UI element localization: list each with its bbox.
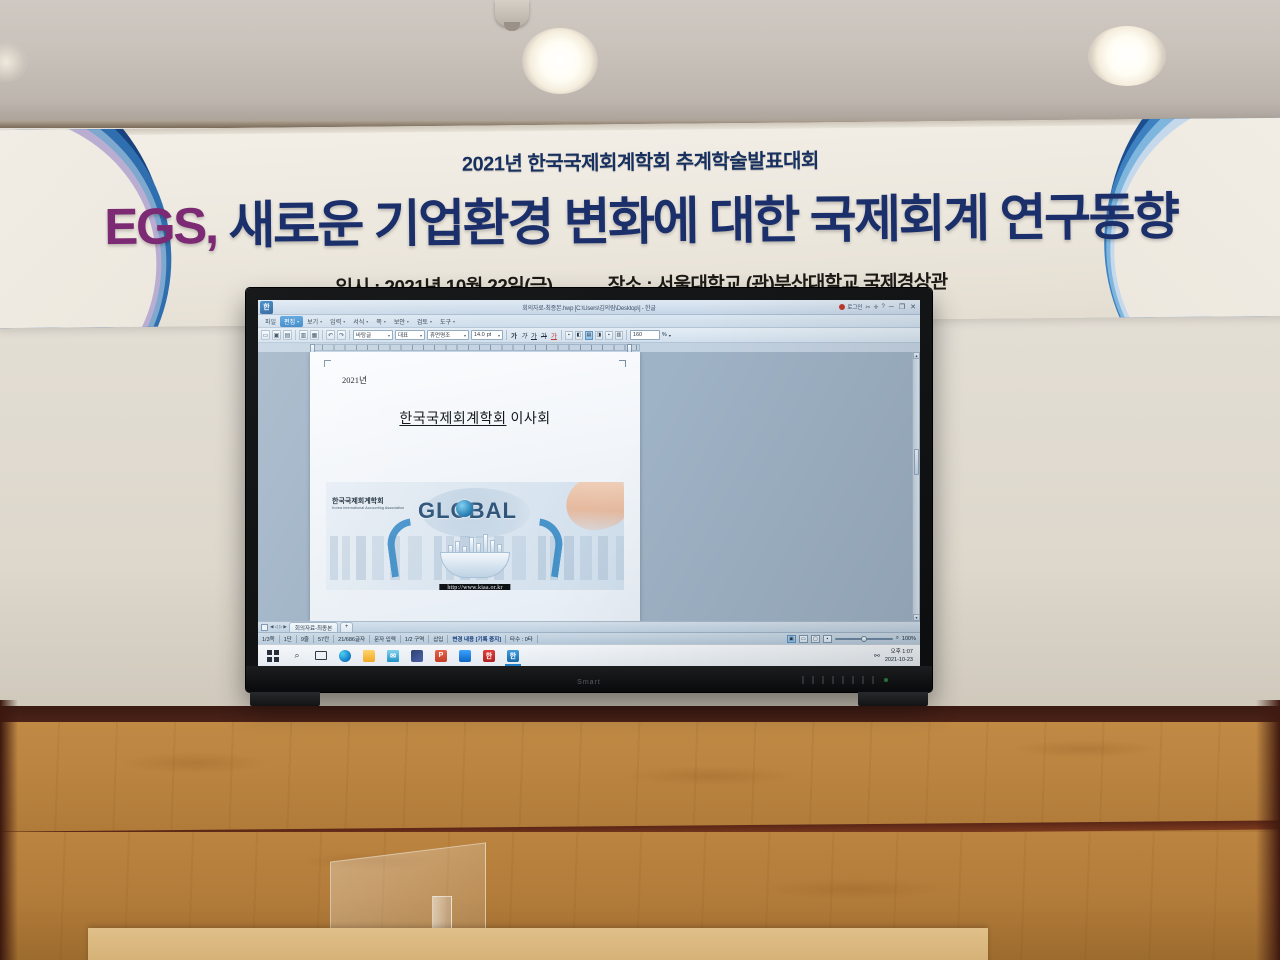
font-family-value: 휴먼명조 [430, 331, 450, 339]
horizontal-ruler[interactable] [310, 344, 640, 351]
document-heading-underlined: 한국국제회계학회 [399, 412, 506, 427]
wall-shadow-left [0, 700, 18, 960]
menu-label: 보안 [394, 317, 405, 326]
menu-item-security[interactable]: 보안▾ [390, 316, 413, 327]
status-char-count: 21/686글자 [334, 635, 370, 643]
menu-item-input[interactable]: 입력▾ [326, 316, 349, 327]
menu-label: 보기 [307, 317, 318, 326]
zoom-slider[interactable] [835, 635, 893, 643]
logo-org-name-en: Korea International Accounting Associati… [332, 506, 404, 510]
task-view-button[interactable] [309, 646, 333, 666]
status-insert-mode: 삽입 [429, 635, 448, 643]
save-document-icon[interactable]: ▤ [283, 330, 292, 340]
italic-button[interactable]: 가 [520, 330, 528, 340]
chevron-down-icon: ▾ [430, 319, 432, 324]
document-page[interactable]: 2021년 한국국제회계학회 이사회 한국국제회계학회 Korea Intern… [310, 352, 640, 621]
taskbar-item-hangul-red[interactable]: 한 [477, 646, 501, 666]
chevron-down-icon: ▾ [420, 333, 422, 338]
menu-label: 입력 [330, 317, 341, 326]
magnifier-icon[interactable]: ⌕ [896, 635, 899, 642]
windows-taskbar: ⌕ ✉ P 한 한 ⚯ 오후 1:07 2021-10-23 [258, 644, 920, 666]
ruler-row [258, 343, 920, 352]
font-family-select[interactable]: 휴먼명조 ▾ [427, 330, 469, 340]
align-distribute-button[interactable]: ▪ [605, 331, 613, 340]
ceiling [0, 0, 1280, 128]
chevron-down-icon: ▾ [498, 333, 500, 338]
ceiling-light [1088, 26, 1166, 86]
scroll-up-icon[interactable]: ▴ [913, 352, 920, 359]
hangul-blue-icon: 한 [507, 650, 519, 662]
chevron-down-icon: ▾ [320, 319, 322, 324]
banner-title-rest: 새로운 기업환경 변화에 대한 국제회계 연구동향 [216, 188, 1178, 254]
sprinkler-head-icon [495, 0, 529, 26]
wood-grain [760, 878, 950, 900]
menu-label: 파일 [265, 317, 276, 326]
wood-panel-upper [0, 722, 1280, 832]
taskbar-item-file-explorer[interactable] [357, 646, 381, 666]
zoom-app-icon [459, 650, 471, 662]
margin-marker [619, 360, 626, 367]
menu-item-page[interactable]: 쪽▾ [372, 316, 390, 327]
menu-item-edit[interactable]: 편집▾ [280, 316, 303, 327]
menu-label: 검토 [417, 317, 428, 326]
status-keystrokes: 타수 : 0타 [506, 635, 538, 643]
search-icon: ⌕ [294, 650, 299, 661]
font-size-select[interactable]: 14.0 pt ▾ [471, 330, 503, 340]
menu-label: 서식 [353, 317, 364, 326]
system-tray: ⚯ 오후 1:07 2021-10-23 [874, 648, 917, 664]
redo-icon[interactable]: ↷ [337, 330, 346, 340]
globe-icon [456, 500, 473, 517]
clock-time: 오후 1:07 [885, 648, 913, 656]
taskbar-item-powerpoint[interactable]: P [429, 646, 453, 666]
banner-title-egs: EGS, [104, 197, 217, 255]
view-mode-single-button[interactable]: ▣ [787, 635, 796, 643]
document-tab[interactable]: 회의자료-최종본 [289, 622, 338, 633]
document-heading: 한국국제회계학회 이사회 [310, 408, 640, 428]
font-size-unit: pt [487, 332, 492, 338]
tab-nav-last-icon[interactable]: ▶ [283, 624, 286, 630]
taskbar-item-edge[interactable] [333, 646, 357, 666]
align-right-button[interactable]: ◨ [595, 331, 603, 340]
print-preview-icon[interactable]: ▦ [310, 330, 319, 340]
chevron-down-icon[interactable]: ▾ [669, 333, 671, 338]
status-line: 9줄 [297, 635, 314, 643]
status-section: 1/2 구역 [401, 635, 429, 643]
bar-chart-graphic [444, 530, 506, 554]
tab-nav-first-icon[interactable]: ◀ [270, 624, 273, 630]
formatting-toolbar: ▭ ▣ ▤ ▥ ▦ ↶ ↷ 바탕글 ▾ 대표 ▾ [258, 328, 920, 343]
menu-bar: 파일 편집▾ 보기▾ 입력▾ 서식▾ 쪽▾ [258, 315, 920, 328]
banner-title: EGS, 새로운 기업환경 변화에 대한 국제회계 연구동향 [0, 174, 1280, 260]
taskbar-item-zoom[interactable] [453, 646, 477, 666]
toolbar-separator [561, 330, 562, 340]
window-titlebar: 한 회의자료-최종본.hwp [C:\Users\김의림\Desktop\] -… [258, 300, 920, 315]
powerpoint-icon: P [435, 650, 447, 662]
hangul-red-icon: 한 [483, 650, 495, 662]
line-spacing-unit: % [662, 332, 667, 338]
toolbar-separator [626, 330, 627, 340]
task-view-icon [315, 651, 327, 660]
document-line-year: 2021년 [342, 374, 367, 386]
line-spacing-input[interactable]: 160 [630, 330, 660, 340]
chevron-down-icon: ▾ [384, 319, 386, 324]
folder-icon [363, 650, 375, 662]
align-divide-button[interactable]: ▥ [615, 331, 623, 340]
add-tab-button[interactable]: + [340, 622, 353, 633]
mail-icon: ✉ [387, 650, 399, 662]
taskbar-item-mail[interactable]: ✉ [381, 646, 405, 666]
menu-item-view[interactable]: 보기▾ [303, 316, 326, 327]
wood-grain [120, 752, 270, 774]
margin-marker [324, 360, 331, 367]
tab-navigation[interactable]: ◀ ◁ ▷ ▶ [270, 624, 287, 630]
vertical-scrollbar[interactable]: ▴ ▾ [912, 352, 919, 621]
align-justify-button[interactable]: ▪ [565, 331, 573, 340]
taskbar-item-teams[interactable] [405, 646, 429, 666]
chevron-down-icon: ▾ [388, 333, 390, 338]
teams-icon [411, 650, 423, 662]
document-tab-bar: ◀ ◁ ▷ ▶ 회의자료-최종본 + [258, 621, 920, 632]
taskbar-search-button[interactable]: ⌕ [285, 646, 309, 666]
tv-bezel-bottom: Smart [246, 666, 932, 692]
scrollbar-thumb[interactable] [914, 449, 919, 475]
edge-icon [339, 650, 351, 662]
start-button[interactable] [261, 646, 285, 666]
status-page: 1/3쪽 [258, 635, 280, 643]
chevron-down-icon: ▾ [453, 319, 455, 324]
zoom-slider-handle[interactable] [861, 636, 867, 642]
wall-shadow-right [1256, 700, 1280, 960]
print-icon[interactable]: ▥ [299, 330, 308, 340]
menu-label: 도구 [440, 317, 451, 326]
toolbar-separator [349, 330, 350, 340]
hangul-word-processor-window: 한 회의자료-최종본.hwp [C:\Users\김의림\Desktop\] -… [258, 300, 920, 666]
tv-control-buttons[interactable] [802, 676, 876, 684]
hand-graphic [559, 482, 624, 538]
toolbar-separator [295, 330, 296, 340]
view-mode-facing-button[interactable]: ▭ [799, 635, 808, 643]
toolbar-separator [506, 330, 507, 340]
status-track-changes: 변경 내용 [기록 중지] [448, 635, 506, 643]
menu-item-review[interactable]: 검토▾ [413, 316, 436, 327]
clock-date: 2021-10-23 [885, 656, 913, 664]
style-type-value: 대표 [398, 331, 408, 339]
association-logo-image[interactable]: 한국국제회계학회 Korea International Accounting … [326, 482, 624, 590]
network-icon[interactable]: ⚯ [874, 652, 880, 660]
tv-stand-left [250, 690, 320, 706]
window-title: 회의자료-최종본.hwp [C:\Users\김의림\Desktop\] - 한… [258, 303, 920, 312]
underline-button[interactable]: 가 [530, 330, 538, 340]
document-canvas[interactable]: 2021년 한국국제회계학회 이사회 한국국제회계학회 Korea Intern… [258, 352, 920, 621]
tab-list-icon[interactable] [261, 624, 268, 631]
wood-grain [1010, 740, 1160, 758]
display-screen: 한 회의자료-최종본.hwp [C:\Users\김의림\Desktop\] -… [258, 300, 920, 666]
conference-room: 2021년 한국국제회계학회 추계학술발표대회 EGS, 새로운 기업환경 변화… [0, 0, 1280, 960]
wall-mounted-display: 한 회의자료-최종본.hwp [C:\Users\김의림\Desktop\] -… [246, 288, 932, 692]
tv-stand-right [858, 690, 928, 706]
status-input-mode: 문자 입력 [370, 635, 401, 643]
undo-icon[interactable]: ↶ [326, 330, 335, 340]
document-heading-rest: 이사회 [506, 412, 550, 427]
new-document-icon[interactable]: ▭ [261, 330, 270, 340]
menu-item-tools[interactable]: 도구▾ [436, 316, 459, 327]
line-spacing-value: 160 [633, 332, 642, 338]
chevron-down-icon: ▾ [343, 319, 345, 324]
font-color-button[interactable]: 가 [550, 330, 558, 340]
open-document-icon[interactable]: ▣ [272, 330, 281, 340]
menu-label: 쪽 [376, 317, 382, 326]
status-char-pos: 57칸 [314, 635, 334, 643]
chevron-down-icon: ▾ [407, 319, 409, 324]
windows-logo-icon [267, 650, 279, 662]
menu-item-format[interactable]: 서식▾ [349, 316, 372, 327]
chevron-down-icon: ▾ [464, 333, 466, 338]
toolbar-separator [322, 330, 323, 340]
align-center-button[interactable]: ▤ [585, 331, 593, 340]
menu-label: 편집 [284, 317, 295, 326]
paragraph-style-select[interactable]: 바탕글 ▾ [353, 330, 393, 340]
menu-item-file[interactable]: 파일 [261, 316, 280, 327]
zoom-level-label: 100% [902, 636, 916, 642]
tv-power-led-icon [884, 678, 888, 682]
status-bar: 1/3쪽 1단 9줄 57칸 21/686글자 문자 입력 1/2 구역 삽입 … [258, 632, 920, 644]
tv-brand-label: Smart [577, 679, 601, 686]
logo-org-name-ko: 한국국제회계학회 [332, 496, 384, 506]
strikethrough-button[interactable]: 가 [540, 330, 548, 340]
align-left-button[interactable]: ◧ [575, 331, 583, 340]
ceiling-light [522, 28, 598, 94]
tab-nav-next-icon[interactable]: ▷ [279, 624, 282, 630]
taskbar-clock[interactable]: 오후 1:07 2021-10-23 [885, 648, 913, 664]
paragraph-style-value: 바탕글 [356, 331, 371, 339]
chevron-down-icon: ▾ [366, 319, 368, 324]
view-mode-fit-button[interactable]: ▪ [823, 635, 832, 643]
status-column: 1단 [280, 635, 297, 643]
bold-button[interactable]: 가 [510, 330, 518, 340]
wood-grain [620, 766, 800, 786]
taskbar-item-hangul-blue[interactable]: 한 [501, 646, 525, 666]
tab-nav-prev-icon[interactable]: ◁ [274, 624, 277, 630]
view-mode-width-button[interactable]: ▢ [811, 635, 820, 643]
scroll-down-icon[interactable]: ▾ [913, 614, 920, 621]
font-size-value: 14.0 [474, 332, 485, 338]
logo-url: http://www.kiaa.or.kr [439, 584, 510, 590]
table-surface [88, 928, 988, 960]
chevron-down-icon: ▾ [297, 319, 299, 324]
style-type-select[interactable]: 대표 ▾ [395, 330, 425, 340]
